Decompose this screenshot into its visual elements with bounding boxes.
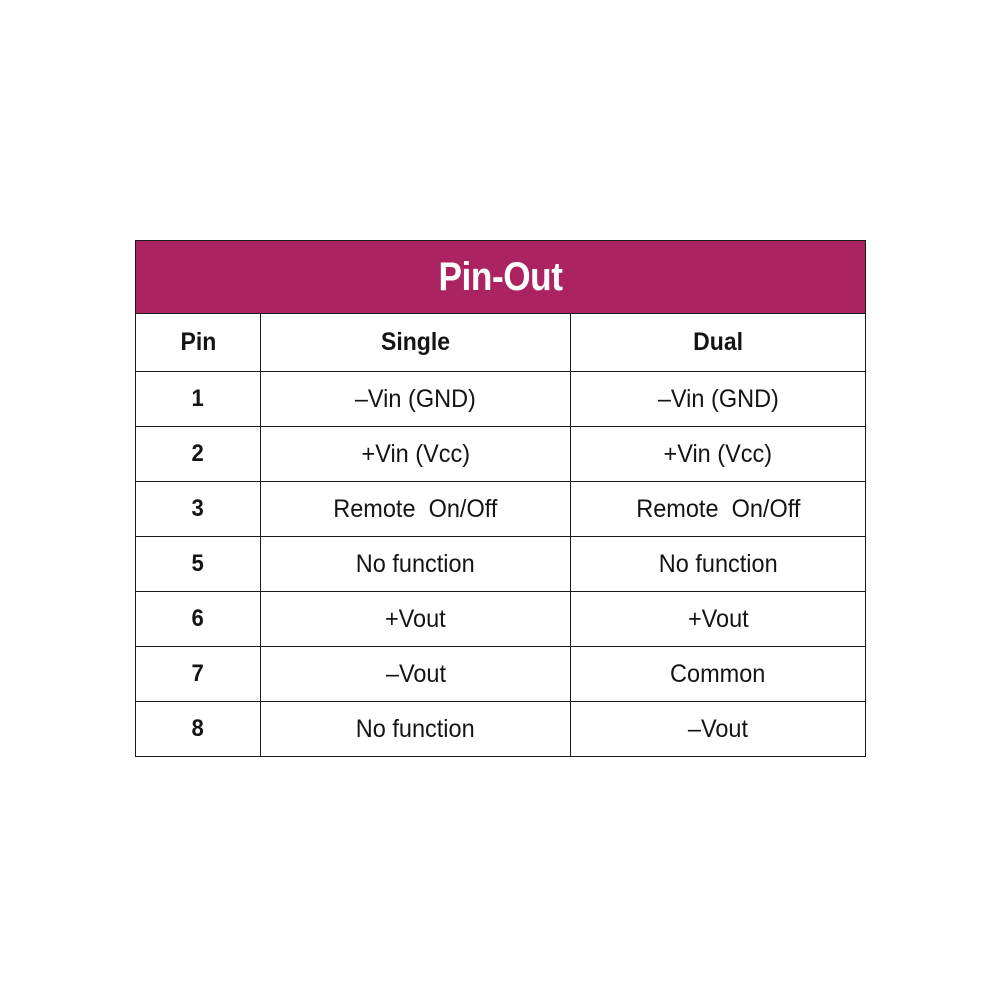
page-canvas: Pin-Out Pin Single Dual 1 –Vin (GND) –Vi… [0,0,1000,1000]
cell-dual: Remote On/Off [571,482,866,537]
column-header-single: Single [261,314,571,372]
column-header-pin-label: Pin [180,328,216,357]
cell-dual: –Vin (GND) [571,372,866,427]
cell-dual: +Vin (Vcc) [571,427,866,482]
table-row: 1 –Vin (GND) –Vin (GND) [136,372,866,427]
cell-pin: 6 [136,592,261,647]
table-title: Pin-Out [180,241,822,313]
cell-pin: 2 [136,427,261,482]
banner-row: Pin-Out [136,241,866,314]
cell-dual: +Vout [571,592,866,647]
column-header-single-label: Single [381,328,450,357]
table-row: 6 +Vout +Vout [136,592,866,647]
cell-single: –Vout [261,647,571,702]
cell-single: No function [261,702,571,757]
cell-dual: No function [571,537,866,592]
cell-dual: –Vout [571,702,866,757]
cell-pin: 1 [136,372,261,427]
cell-single: –Vin (GND) [261,372,571,427]
cell-single: Remote On/Off [261,482,571,537]
cell-single: +Vout [261,592,571,647]
cell-pin: 5 [136,537,261,592]
column-header-dual-label: Dual [693,328,743,357]
pin-out-table: Pin-Out Pin Single Dual 1 –Vin (GND) –Vi… [135,240,866,757]
table-row: 3 Remote On/Off Remote On/Off [136,482,866,537]
cell-pin: 7 [136,647,261,702]
cell-pin: 8 [136,702,261,757]
cell-pin: 3 [136,482,261,537]
cell-dual: Common [571,647,866,702]
table-row: 2 +Vin (Vcc) +Vin (Vcc) [136,427,866,482]
table-row: 5 No function No function [136,537,866,592]
cell-single: No function [261,537,571,592]
cell-single: +Vin (Vcc) [261,427,571,482]
column-header-dual: Dual [571,314,866,372]
table-title-banner: Pin-Out [136,241,866,314]
column-header-pin: Pin [136,314,261,372]
table-row: 8 No function –Vout [136,702,866,757]
column-header-row: Pin Single Dual [136,314,866,372]
table-row: 7 –Vout Common [136,647,866,702]
table-head: Pin-Out Pin Single Dual [136,241,866,372]
table-body: 1 –Vin (GND) –Vin (GND) 2 +Vin (Vcc) +Vi… [136,372,866,757]
